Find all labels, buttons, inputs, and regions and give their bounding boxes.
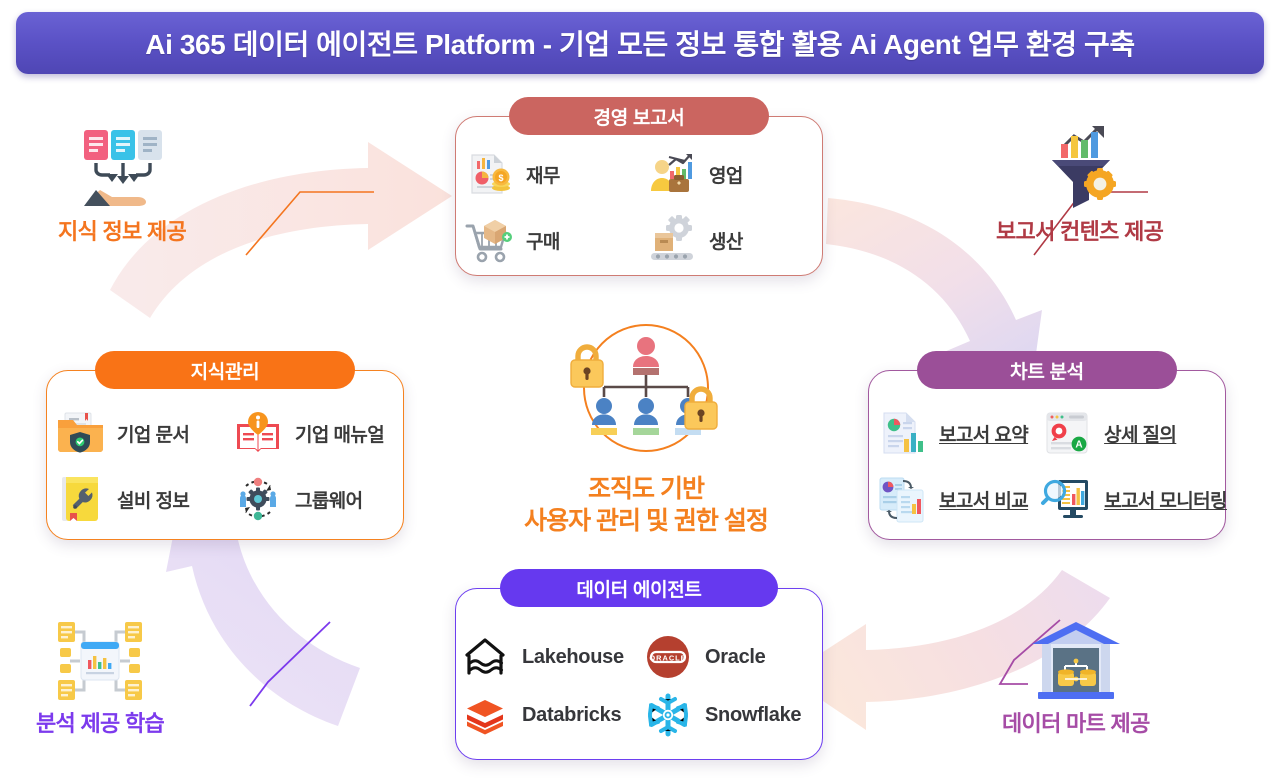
item-sales[interactable]: 영업 — [639, 143, 822, 205]
corner-label-analysis-learning: 분석 제공 학습 — [36, 618, 164, 738]
item-detail-query[interactable]: A 상세 질의 — [1034, 402, 1233, 464]
lakehouse-logo — [460, 632, 510, 682]
brand-label: Oracle — [705, 646, 765, 669]
funnel-chart-gear-icon — [1028, 126, 1132, 212]
item-label: 상세 질의 — [1104, 420, 1176, 447]
brand-label: Snowflake — [705, 704, 801, 727]
card-management-report[interactable]: 경영 보고서 — [455, 116, 823, 276]
card-header-knowledge-management: 지식관리 — [95, 351, 355, 389]
item-snowflake[interactable]: Snowflake — [639, 687, 822, 743]
card-items-chart-analysis: 보고서 요약 — [869, 403, 1225, 529]
financial-report-icon: $ — [462, 147, 516, 201]
documents-to-hand-icon — [70, 126, 174, 212]
card-chart-analysis[interactable]: 차트 분석 — [868, 370, 1226, 540]
item-label: 보고서 모니터링 — [1104, 486, 1227, 513]
item-label: 설비 정보 — [117, 486, 189, 513]
item-label: 기업 매뉴얼 — [295, 420, 384, 447]
card-knowledge-management[interactable]: 지식관리 기업 문 — [46, 370, 404, 540]
item-production[interactable]: 생산 — [639, 209, 822, 271]
item-label: 재무 — [526, 161, 560, 188]
corner-label-data-mart: 데이터 마트 제공 — [1002, 618, 1150, 738]
corner-label-text: 보고서 컨텐츠 제공 — [996, 214, 1163, 246]
report-compare-icon — [875, 472, 929, 526]
center-title-line2: 사용자 관리 및 권한 설정 — [524, 506, 768, 538]
equipment-wrench-book-icon — [53, 472, 107, 526]
card-items-data-agent: Lakehouse ORACLE Oracle — [456, 623, 822, 749]
diagram-canvas: Ai 365 데이터 에이전트 Platform - 기업 모든 정보 통합 활… — [0, 0, 1280, 780]
card-header-chart-analysis: 차트 분석 — [917, 351, 1177, 389]
card-items-management-report: $ 재무 — [456, 149, 822, 265]
item-report-monitoring[interactable]: 보고서 모니터링 — [1034, 468, 1233, 530]
databricks-logo — [460, 690, 510, 740]
org-chart-lock-icon — [563, 322, 729, 466]
item-databricks[interactable]: Databricks — [456, 687, 639, 743]
item-label: 구매 — [526, 227, 560, 254]
item-equipment-info[interactable]: 설비 정보 — [47, 468, 225, 530]
detail-query-window-icon: A — [1040, 406, 1094, 460]
shopping-cart-box-icon — [462, 213, 516, 267]
center-org-chart-node: 조직도 기반 사용자 관리 및 권한 설정 — [500, 322, 792, 537]
corner-label-knowledge-supply: 지식 정보 제공 — [58, 126, 186, 246]
card-data-agent[interactable]: 데이터 에이전트 Lakehouse — [455, 588, 823, 760]
corner-label-report-contents: 보고서 컨텐츠 제공 — [996, 126, 1163, 246]
svg-text:A: A — [1075, 440, 1082, 451]
card-items-knowledge-management: 기업 문서 — [47, 403, 403, 529]
card-header-management-report: 경영 보고서 — [509, 97, 769, 135]
production-conveyor-gear-icon — [645, 213, 699, 267]
analysis-network-chart-icon — [48, 618, 152, 704]
sales-person-chart-icon — [645, 147, 699, 201]
item-label: 보고서 요약 — [939, 420, 1028, 447]
item-report-summary[interactable]: 보고서 요약 — [869, 402, 1034, 464]
brand-label: Databricks — [522, 704, 621, 727]
item-finance[interactable]: $ 재무 — [456, 143, 639, 205]
item-label: 영업 — [709, 161, 743, 188]
snowflake-logo — [643, 690, 693, 740]
item-corporate-documents[interactable]: 기업 문서 — [47, 402, 225, 464]
svg-text:$: $ — [498, 173, 503, 183]
item-label: 기업 문서 — [117, 420, 189, 447]
data-warehouse-icon — [1024, 618, 1128, 704]
svg-text:ORACLE: ORACLE — [649, 654, 686, 663]
item-groupware[interactable]: 그룹웨어 — [225, 468, 403, 530]
report-summary-icon — [875, 406, 929, 460]
item-report-compare[interactable]: 보고서 비교 — [869, 468, 1034, 530]
center-title-line1: 조직도 기반 — [524, 474, 768, 506]
corner-label-text: 분석 제공 학습 — [36, 706, 164, 738]
item-label: 생산 — [709, 227, 743, 254]
item-corporate-manual[interactable]: 기업 매뉴얼 — [225, 402, 403, 464]
secure-folder-icon — [53, 406, 107, 460]
brand-label: Lakehouse — [522, 646, 624, 669]
corner-label-text: 데이터 마트 제공 — [1002, 706, 1150, 738]
corner-label-text: 지식 정보 제공 — [58, 214, 186, 246]
item-purchase[interactable]: 구매 — [456, 209, 639, 271]
report-monitoring-icon — [1040, 472, 1094, 526]
groupware-gear-users-icon — [231, 472, 285, 526]
oracle-logo: ORACLE — [643, 632, 693, 682]
item-oracle[interactable]: ORACLE Oracle — [639, 629, 822, 685]
card-header-data-agent: 데이터 에이전트 — [500, 569, 778, 607]
item-label: 그룹웨어 — [295, 486, 363, 513]
item-lakehouse[interactable]: Lakehouse — [456, 629, 639, 685]
manual-book-info-icon — [231, 406, 285, 460]
item-label: 보고서 비교 — [939, 486, 1028, 513]
center-title: 조직도 기반 사용자 관리 및 권한 설정 — [524, 474, 768, 537]
